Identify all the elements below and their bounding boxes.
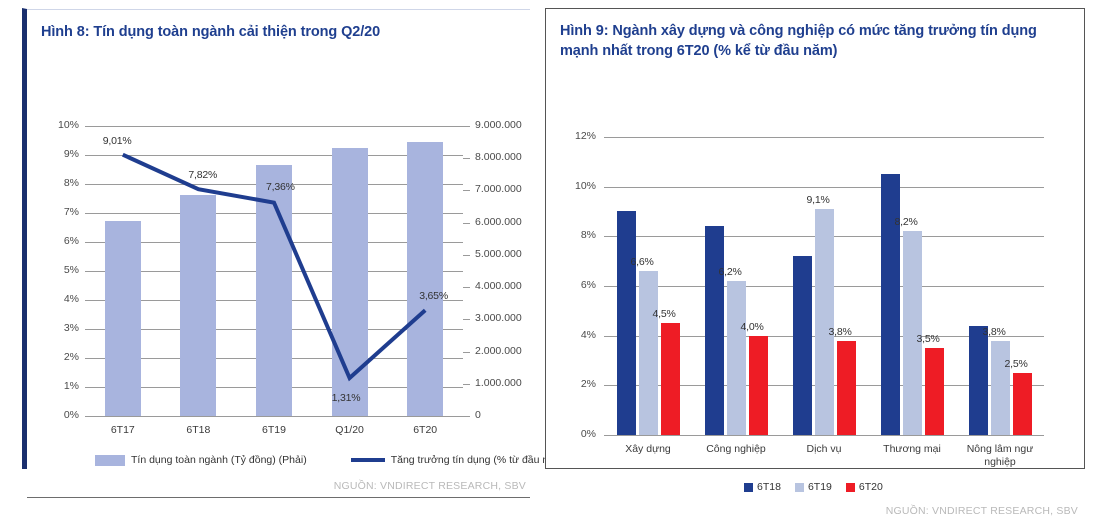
y-axis-left-tick-label: 10%: [39, 119, 79, 131]
line-data-label: 1,31%: [332, 392, 361, 404]
y-axis-tick-label: 8%: [554, 229, 596, 241]
figure-9-title: Hình 9: Ngành xây dựng và công nghiệp có…: [546, 9, 1084, 65]
x-axis-label: Xây dựng: [600, 443, 696, 456]
figure-9-source: NGUỒN: VNDIRECT RESEARCH, SBV: [886, 505, 1078, 517]
legend-item[interactable]: 6T20: [846, 481, 883, 493]
bar-6t20: [837, 341, 856, 435]
bar-6t19: [991, 341, 1010, 435]
figure-9-panel: Hình 9: Ngành xây dựng và công nghiệp có…: [545, 8, 1085, 469]
bar-6t18: [881, 174, 900, 435]
legend-swatch: [744, 483, 753, 492]
figure-8-legend: Tín dụng toàn ngành (Tỷ đồng) (Phải)Tăng…: [95, 454, 566, 466]
gridline: [604, 435, 1044, 436]
y-axis-tick-label: 10%: [554, 180, 596, 192]
y-axis-right-tick: [463, 416, 470, 417]
figure-8-panel: Hình 8: Tín dụng toàn ngành cải thiện tr…: [22, 8, 530, 469]
y-axis-right-tick-label: 6.000.000: [475, 216, 522, 228]
y-axis-tick-label: 12%: [554, 130, 596, 142]
y-axis-left-tick-label: 6%: [39, 235, 79, 247]
figure-9-legend: 6T186T196T20: [744, 481, 883, 493]
y-axis-right-tick-label: 4.000.000: [475, 280, 522, 292]
bar-6t20: [749, 336, 768, 435]
bar-6t18: [793, 256, 812, 435]
y-axis-right-tick-label: 0: [475, 409, 481, 421]
bar-data-label: 4,5%: [653, 308, 676, 320]
y-axis-right-tick-label: 5.000.000: [475, 248, 522, 260]
y-axis-right-tick-label: 8.000.000: [475, 151, 522, 163]
legend-item[interactable]: 6T18: [744, 481, 781, 493]
y-axis-right-tick: [463, 190, 470, 191]
y-axis-left-tick-label: 1%: [39, 380, 79, 392]
y-axis-right-tick: [463, 384, 470, 385]
y-axis-right-tick-label: 7.000.000: [475, 183, 522, 195]
y-axis-left-tick-label: 5%: [39, 264, 79, 276]
bar-6t19: [815, 209, 834, 435]
y-axis-left-tick-label: 9%: [39, 148, 79, 160]
bar-6t19: [639, 271, 658, 435]
figure-8-plot-area: [85, 126, 463, 416]
bar-6t18: [969, 326, 988, 435]
legend-swatch: [846, 483, 855, 492]
y-axis-left-tick-label: 3%: [39, 322, 79, 334]
x-axis-label: Q1/20: [312, 424, 388, 437]
y-axis-right-tick-label: 3.000.000: [475, 312, 522, 324]
bar-6t20: [925, 348, 944, 435]
y-axis-right-tick: [463, 126, 470, 127]
legend-item[interactable]: Tăng trưởng tín dụng (% từ đầu năm): [351, 454, 567, 466]
bar-data-label: 3,8%: [983, 326, 1006, 338]
y-axis-left-tick-label: 0%: [39, 409, 79, 421]
legend-label: 6T18: [757, 481, 781, 493]
bar-data-label: 3,5%: [917, 333, 940, 345]
gridline: [604, 187, 1044, 188]
x-axis-label: Dịch vụ: [776, 443, 872, 456]
bar-data-label: 9,1%: [807, 194, 830, 206]
figure-8-title: Hình 8: Tín dụng toàn ngành cải thiện tr…: [27, 9, 530, 46]
figures-page: Hình 8: Tín dụng toàn ngành cải thiện tr…: [0, 0, 1103, 477]
bar-data-label: 8,2%: [895, 216, 918, 228]
line-data-label: 7,36%: [266, 181, 295, 193]
line-data-label: 7,82%: [188, 169, 217, 181]
y-axis-right-tick: [463, 287, 470, 288]
y-axis-left-tick-label: 8%: [39, 177, 79, 189]
y-axis-tick-label: 0%: [554, 428, 596, 440]
y-axis-tick-label: 4%: [554, 329, 596, 341]
y-axis-right-tick: [463, 352, 470, 353]
y-axis-right-tick-label: 1.000.000: [475, 377, 522, 389]
x-axis-label: Thương mại: [864, 443, 960, 456]
y-axis-left-tick-label: 4%: [39, 293, 79, 305]
bar-6t18: [617, 211, 636, 435]
y-axis-right-tick-label: 2.000.000: [475, 345, 522, 357]
y-axis-tick-label: 2%: [554, 378, 596, 390]
credit-growth-line: [85, 126, 463, 416]
bar-6t20: [1013, 373, 1032, 435]
gridline: [604, 137, 1044, 138]
bar-data-label: 4,0%: [741, 321, 764, 333]
legend-label: 6T20: [859, 481, 883, 493]
legend-label: Tăng trưởng tín dụng (% từ đầu năm): [391, 454, 567, 466]
x-axis-label: 6T19: [236, 424, 312, 437]
bar-6t18: [705, 226, 724, 435]
bar-6t19: [727, 281, 746, 435]
x-axis-label: Nông lâm ngư nghiệp: [952, 443, 1048, 469]
y-axis-right-tick: [463, 255, 470, 256]
bar-6t20: [661, 323, 680, 435]
y-axis-left-tick-label: 7%: [39, 206, 79, 218]
x-axis-label: 6T17: [85, 424, 161, 437]
bar-data-label: 6,6%: [631, 256, 654, 268]
legend-line-swatch: [351, 458, 385, 462]
legend-label: 6T19: [808, 481, 832, 493]
line-data-label: 3,65%: [419, 290, 448, 302]
bar-data-label: 3,8%: [829, 326, 852, 338]
legend-bar-swatch: [95, 455, 125, 466]
legend-label: Tín dụng toàn ngành (Tỷ đồng) (Phải): [131, 454, 307, 466]
line-data-label: 9,01%: [103, 135, 132, 147]
y-axis-right-tick-label: 9.000.000: [475, 119, 522, 131]
legend-swatch: [795, 483, 804, 492]
x-axis-label: 6T18: [161, 424, 237, 437]
bar-data-label: 2,5%: [1005, 358, 1028, 370]
y-axis-tick-label: 6%: [554, 279, 596, 291]
gridline: [85, 416, 463, 417]
x-axis-label: 6T20: [387, 424, 463, 437]
y-axis-right-tick: [463, 158, 470, 159]
bar-data-label: 6,2%: [719, 266, 742, 278]
legend-item[interactable]: Tín dụng toàn ngành (Tỷ đồng) (Phải): [95, 454, 307, 466]
figure-9-plot-area: [604, 137, 1044, 435]
legend-item[interactable]: 6T19: [795, 481, 832, 493]
y-axis-right-tick: [463, 223, 470, 224]
figure-8-source: NGUỒN: VNDIRECT RESEARCH, SBV: [334, 480, 526, 492]
y-axis-right-tick: [463, 319, 470, 320]
figure-8-bottom-rule: [27, 497, 530, 498]
x-axis-label: Công nghiệp: [688, 443, 784, 456]
y-axis-left-tick-label: 2%: [39, 351, 79, 363]
